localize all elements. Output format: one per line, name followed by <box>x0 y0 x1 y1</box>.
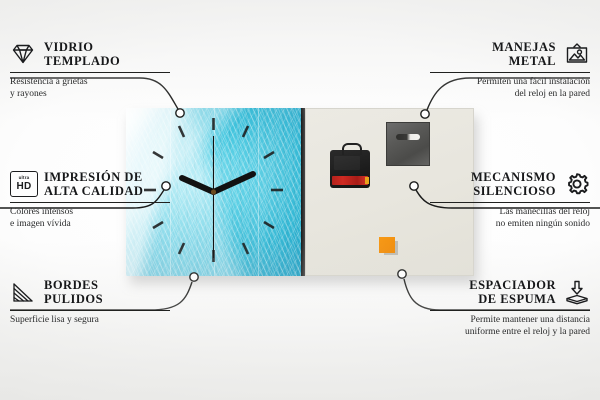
feature-rule <box>10 202 170 203</box>
feature-manejas-metal: MANEJAS METAL Permiten una fácil instala… <box>430 40 590 100</box>
feature-title-line2: SILENCIOSO <box>471 184 556 198</box>
feature-desc-line2: e imagen vívida <box>10 219 170 231</box>
feature-rule <box>10 310 170 311</box>
infographic-canvas: VIDRIO TEMPLADO Resistencia a grietas y … <box>0 0 600 400</box>
feature-desc-line1: Las manecillas del reloj <box>430 207 590 219</box>
quartz-mechanism-box <box>330 150 370 188</box>
feature-rule <box>10 72 170 73</box>
hd-badge-large-text: HD <box>16 182 31 192</box>
feature-rule <box>430 202 590 203</box>
mechanism-face-detail <box>334 156 360 170</box>
ultra-hd-badge-icon: ultra HD <box>10 171 36 197</box>
feature-espaciador-espuma: ESPACIADOR DE ESPUMA Permite mantener un… <box>430 278 590 338</box>
feature-desc-line1: Permite mantener una distancia <box>430 315 590 327</box>
feature-desc-line2: uniforme entre el reloj y la pared <box>430 327 590 339</box>
feature-title-line1: MANEJAS <box>492 40 556 54</box>
feature-title-line1: IMPRESIÓN DE <box>44 170 143 184</box>
feature-desc-line2: del reloj en la pared <box>430 89 590 101</box>
feature-title-line2: DE ESPUMA <box>469 292 556 306</box>
arrow-down-layers-icon <box>564 279 590 305</box>
metal-hanger-plate <box>386 122 430 166</box>
hanger-slot <box>396 134 420 140</box>
hour-hand <box>182 178 214 192</box>
feature-impresion-alta-calidad: ultra HD IMPRESIÓN DE ALTA CALIDAD Color… <box>10 170 170 230</box>
battery <box>332 176 368 185</box>
feature-desc-line1: Resistencia a grietas <box>10 77 170 89</box>
polished-edge-icon <box>10 279 36 305</box>
feature-title-line2: METAL <box>492 54 556 68</box>
feature-title-line2: TEMPLADO <box>44 54 120 68</box>
picture-hanger-icon <box>564 41 590 67</box>
mechanism-hook <box>342 143 362 155</box>
minute-hand <box>214 174 254 192</box>
product-image <box>126 108 474 278</box>
feature-desc-line2: y rayones <box>10 89 170 101</box>
battery-terminal <box>365 177 369 184</box>
diamond-icon <box>10 41 36 67</box>
feature-desc-line2: no emiten ningún sonido <box>430 219 590 231</box>
feature-rule <box>430 72 590 73</box>
feature-desc-line1: Superficie lisa y segura <box>10 315 170 327</box>
feature-bordes-pulidos: BORDES PULIDOS Superficie lisa y segura <box>10 278 170 327</box>
feature-title-line2: ALTA CALIDAD <box>44 184 143 198</box>
feature-rule <box>430 310 590 311</box>
feature-title-line1: ESPACIADOR <box>469 278 556 292</box>
feature-title-line2: PULIDOS <box>44 292 103 306</box>
hand-pivot <box>211 189 216 194</box>
feature-vidrio-templado: VIDRIO TEMPLADO Resistencia a grietas y … <box>10 40 170 100</box>
feature-desc-line1: Permiten una fácil instalación <box>430 77 590 89</box>
feature-title-line1: VIDRIO <box>44 40 120 54</box>
feature-title-line1: BORDES <box>44 278 103 292</box>
feature-desc-line1: Colores intensos <box>10 207 170 219</box>
feature-mecanismo-silencioso: MECANISMO SILENCIOSO Las manecillas del … <box>430 170 590 230</box>
gear-icon <box>564 171 590 197</box>
foam-spacer <box>379 237 395 253</box>
feature-title-line1: MECANISMO <box>471 170 556 184</box>
